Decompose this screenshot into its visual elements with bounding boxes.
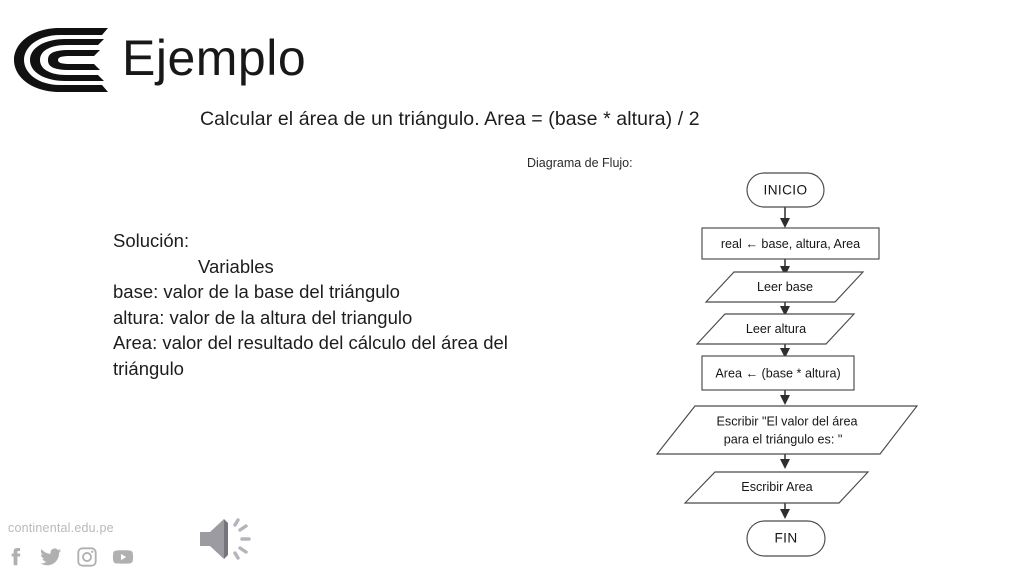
flowchart: INICIO real ← base, altura, Area Leer ba… [620,166,1024,576]
flow-node-leer-base: Leer base [706,272,863,302]
flowchart-heading: Diagrama de Flujo: [527,156,633,170]
facebook-link[interactable] [4,546,26,568]
instagram-link[interactable] [76,546,98,568]
speaker-audio-icon[interactable] [192,512,258,566]
flow-node-inicio: INICIO [747,173,824,207]
flow-node-escribir-area-label: Escribir Area [741,480,812,494]
site-url: continental.edu.pe [8,521,114,535]
flow-node-leer-altura: Leer altura [697,314,854,344]
solution-heading: Solución: [113,228,543,254]
youtube-link[interactable] [112,546,134,568]
twitter-link[interactable] [40,546,62,568]
flow-node-inicio-label: INICIO [764,183,808,198]
flow-node-fin-label: FIN [774,531,797,546]
flow-node-leer-altura-label: Leer altura [746,322,806,336]
problem-statement: Calcular el área de un triángulo. Area =… [200,108,700,131]
flow-node-escribir-texto-line1: Escribir "El valor del área [717,414,858,428]
flow-node-declaracion-label: real ← base, altura, Area [721,237,860,251]
flow-node-calculo-area-label: Area ← (base * altura) [715,366,840,380]
slide-canvas: Ejemplo Calcular el área de un triángulo… [0,0,1024,576]
flow-node-escribir-texto: Escribir "El valor del área para el triá… [657,406,917,454]
youtube-icon[interactable] [112,546,134,568]
flow-node-fin: FIN [747,521,825,556]
twitter-icon[interactable] [40,546,62,568]
page-title: Ejemplo [122,24,306,92]
flow-node-calculo-area: Area ← (base * altura) [702,356,854,390]
facebook-icon[interactable] [4,546,26,568]
continental-book-logo-icon [8,26,112,94]
variable-definition-area: Area: valor del resultado del cálculo de… [113,330,543,381]
instagram-icon[interactable] [76,546,98,568]
flow-node-declaracion: real ← base, altura, Area [702,228,879,259]
solution-block: Solución: Variables base: valor de la ba… [113,228,543,381]
flow-node-escribir-area: Escribir Area [685,472,868,503]
flow-node-leer-base-label: Leer base [757,280,813,294]
solution-subheading: Variables [113,254,543,280]
variable-definition-base: base: valor de la base del triángulo [113,279,543,305]
variable-definition-altura: altura: valor de la altura del triangulo [113,305,543,331]
social-bar [4,546,134,568]
flow-node-escribir-texto-line2: para el triángulo es: " [724,432,843,446]
